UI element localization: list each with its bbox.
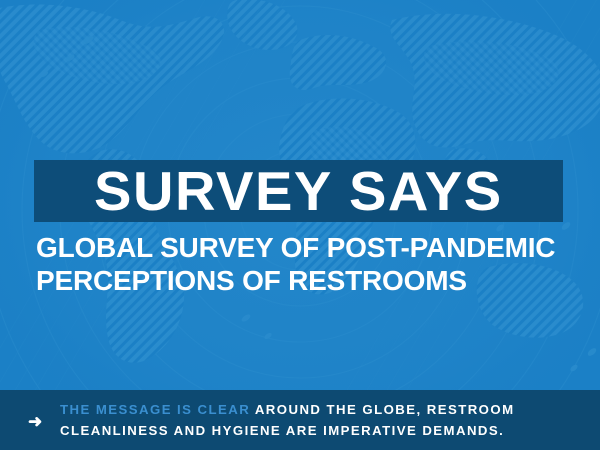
poster-canvas: SURVEY SAYS GLOBAL SURVEY OF POST-PANDEM… (0, 0, 600, 450)
world-map-background (0, 0, 600, 450)
page-title: SURVEY SAYS (94, 164, 503, 219)
subtitle-block: GLOBAL SURVEY OF POST-PANDEMIC PERCEPTIO… (36, 231, 576, 298)
message-bar: ➜ THE MESSAGE IS CLEAR AROUND THE GLOBE,… (0, 390, 600, 450)
subtitle-line-2: PERCEPTIONS OF RESTROOMS (36, 264, 576, 297)
arrow-right-icon: ➜ (28, 410, 58, 430)
title-banner: SURVEY SAYS (34, 160, 563, 222)
message-text: THE MESSAGE IS CLEAR AROUND THE GLOBE, R… (60, 399, 600, 442)
subtitle-line-1: GLOBAL SURVEY OF POST-PANDEMIC (36, 231, 576, 264)
message-highlight: THE MESSAGE IS CLEAR (60, 402, 250, 417)
